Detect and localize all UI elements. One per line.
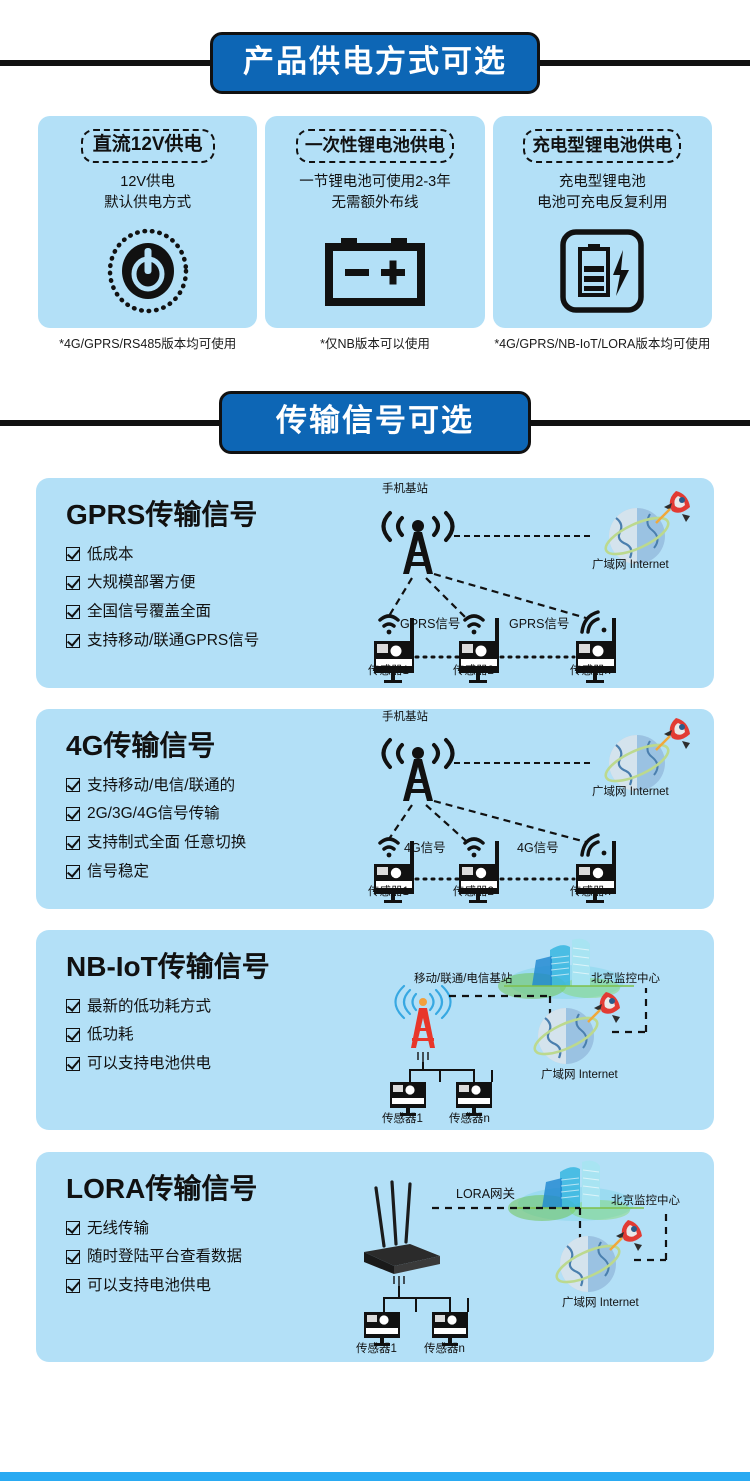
- signal-label-2: GPRS信号: [509, 618, 569, 631]
- sensor-label-1: 传感器1: [368, 887, 409, 899]
- feature-item: 大规模部署方便: [66, 573, 354, 593]
- signal-dot-2: [472, 629, 477, 634]
- city-skyline-icon: [498, 938, 634, 998]
- power-card-desc-line2: 电池可充电反复利用: [537, 193, 668, 214]
- rechargeable-battery-icon: [559, 228, 645, 314]
- check-icon: [66, 1028, 80, 1042]
- power-card-desc-line2: 无需额外布线: [299, 193, 450, 214]
- feature-label: 大规模部署方便: [87, 573, 196, 593]
- feature-item: 信号稳定: [66, 862, 354, 882]
- signal-arc-icon-3: [582, 612, 598, 632]
- feature-item: 低成本: [66, 545, 354, 565]
- check-icon: [66, 999, 80, 1013]
- power-card-title: 一次性锂电池供电: [296, 129, 454, 163]
- feature-item: 无线传输: [66, 1219, 354, 1239]
- power-card-dc12v: 直流12V供电 12V供电 默认供电方式 *4G/GPRS/RS485版本均可使…: [38, 116, 257, 354]
- signal-label-2: 4G信号: [517, 842, 559, 855]
- power-section-banner: 产品供电方式可选: [0, 18, 750, 108]
- feature-label: 低成本: [87, 545, 134, 565]
- signal-dot-1: [387, 629, 392, 634]
- power-card-title: 直流12V供电: [81, 129, 215, 163]
- feature-item: 全国信号覆盖全面: [66, 602, 354, 622]
- top-spacer: [0, 0, 750, 18]
- monitor-center-label: 北京监控中心: [611, 1196, 680, 1208]
- power-card-desc: 12V供电 默认供电方式: [104, 172, 191, 214]
- check-icon: [66, 634, 80, 648]
- power-banner-box: 产品供电方式可选: [210, 32, 540, 95]
- cell-tower-mast: [403, 520, 433, 574]
- power-card-body: 充电型锂电池供电 充电型锂电池 电池可充电反复利用: [493, 116, 712, 328]
- sensor-device-n: [432, 1312, 468, 1346]
- feature-item: 支持移动/电信/联通的: [66, 776, 354, 796]
- feature-item: 可以支持电池供电: [66, 1054, 354, 1074]
- internet-label: 广域网 Internet: [562, 1298, 639, 1310]
- lora-network-diagram: [354, 1152, 714, 1362]
- power-card-primary-lithium: 一次性锂电池供电 一节锂电池可使用2-3年 无需额外布线 *仅NB版本可以使用: [265, 116, 484, 354]
- sensor-label-1: 传感器1: [382, 1114, 423, 1126]
- power-banner-title: 产品供电方式可选: [243, 44, 507, 80]
- sensor-wiring: [384, 1286, 468, 1312]
- sensor-label-n: 传感器n: [570, 887, 611, 899]
- bottom-accent-bar: [0, 1472, 750, 1481]
- sensor-wiring: [410, 1062, 492, 1082]
- link-tower-sensorn: [434, 801, 586, 842]
- feature-label: 支持制式全面 任意切换: [87, 833, 246, 853]
- feature-list: 低成本 大规模部署方便 全国信号覆盖全面 支持移动/联通GPRS信号: [66, 545, 354, 651]
- feature-item: 最新的低功耗方式: [66, 997, 354, 1017]
- tower-label: 手机基站: [382, 484, 428, 496]
- gprs-network-diagram: [354, 478, 714, 688]
- tower-label: 手机基站: [382, 712, 428, 724]
- panel-diagram-lora: LORA网关 北京监控中心 广域网 Internet 传感器1 传感器n: [354, 1152, 714, 1362]
- feature-label: 低功耗: [87, 1025, 134, 1045]
- power-card-desc-line1: 充电型锂电池: [537, 172, 668, 193]
- sensor-label-n: 传感器n: [570, 666, 611, 678]
- power-card-desc-line1: 一节锂电池可使用2-3年: [299, 172, 450, 193]
- nbiot-tower-icon: [396, 986, 451, 1062]
- check-icon: [66, 1057, 80, 1071]
- power-card-rechargeable-lithium: 充电型锂电池供电 充电型锂电池 电池可充电反复利用 *4G/GPRS/NB-Io…: [493, 116, 712, 354]
- rocket-icon: [656, 491, 690, 523]
- feature-label: 无线传输: [87, 1219, 149, 1239]
- power-card-desc: 一节锂电池可使用2-3年 无需额外布线: [299, 172, 450, 214]
- check-icon: [66, 1279, 80, 1293]
- link-tower-sensor2: [426, 578, 466, 618]
- monitor-center-label: 北京监控中心: [591, 974, 660, 986]
- rocket-icon: [610, 1220, 642, 1251]
- signal-dot-2: [472, 852, 477, 857]
- rocket-icon: [656, 718, 690, 750]
- panel-text-column: NB-IoT传输信号 最新的低功耗方式 低功耗 可以支持电池供电: [36, 930, 354, 1130]
- feature-item: 随时登陆平台查看数据: [66, 1247, 354, 1267]
- signal-arc-icon-3: [582, 835, 598, 855]
- power-card-body: 一次性锂电池供电 一节锂电池可使用2-3年 无需额外布线: [265, 116, 484, 328]
- sensor-device-1: [390, 1082, 426, 1116]
- check-icon: [66, 865, 80, 879]
- signal-section-banner: 传输信号可选: [0, 378, 750, 468]
- power-card-note: *仅NB版本可以使用: [265, 335, 484, 354]
- check-icon: [66, 1221, 80, 1235]
- check-icon: [66, 576, 80, 590]
- car-battery-icon: [323, 228, 427, 314]
- feature-list: 最新的低功耗方式 低功耗 可以支持电池供电: [66, 997, 354, 1074]
- signal-dot-1: [387, 852, 392, 857]
- link-tower-sensor1: [389, 578, 412, 616]
- link-tower-sensor1: [389, 805, 412, 839]
- lora-gateway-icon: [364, 1182, 440, 1274]
- fourg-network-diagram: [354, 709, 714, 909]
- tower-label: 移动/联通/电信基站: [414, 974, 512, 986]
- check-icon: [66, 547, 80, 561]
- check-icon: [66, 807, 80, 821]
- signal-dot-3: [602, 627, 607, 632]
- signal-banner-box: 传输信号可选: [219, 391, 531, 454]
- feature-label: 支持移动/联通GPRS信号: [87, 631, 259, 651]
- feature-label: 最新的低功耗方式: [87, 997, 211, 1017]
- panel-heading: NB-IoT传输信号: [66, 952, 354, 983]
- feature-label: 支持移动/电信/联通的: [87, 776, 235, 796]
- panel-heading: GPRS传输信号: [66, 500, 354, 531]
- nbiot-network-diagram: [354, 930, 714, 1130]
- signal-panel-nbiot: NB-IoT传输信号 最新的低功耗方式 低功耗 可以支持电池供电: [36, 930, 714, 1130]
- feature-item: 2G/3G/4G信号传输: [66, 804, 354, 824]
- signal-panel-4g: 4G传输信号 支持移动/电信/联通的 2G/3G/4G信号传输 支持制式全面 任…: [36, 709, 714, 909]
- panel-diagram-4g: 手机基站 广域网 Internet 4G信号 4G信号 传感器1 传感器2 传感…: [354, 709, 714, 909]
- signal-dot-3: [602, 850, 607, 855]
- link-tower-sensorn: [434, 574, 586, 618]
- signal-arc-icon-2: [465, 616, 483, 626]
- panel-diagram-nbiot: 移动/联通/电信基站 北京监控中心 广域网 Internet 传感器1 传感器n: [354, 930, 714, 1130]
- gateway-label: LORA网关: [456, 1188, 515, 1201]
- power-card-row: 直流12V供电 12V供电 默认供电方式 *4G/GPRS/RS485版本均可使…: [0, 116, 750, 354]
- signal-panel-gprs: GPRS传输信号 低成本 大规模部署方便 全国信号覆盖全面 支持移动/联通GPR…: [36, 478, 714, 688]
- panel-text-column: LORA传输信号 无线传输 随时登陆平台查看数据 可以支持电池供电: [36, 1152, 354, 1362]
- feature-list: 支持移动/电信/联通的 2G/3G/4G信号传输 支持制式全面 任意切换 信号稳…: [66, 776, 354, 882]
- power-card-desc: 充电型锂电池 电池可充电反复利用: [537, 172, 668, 214]
- feature-list: 无线传输 随时登陆平台查看数据 可以支持电池供电: [66, 1219, 354, 1296]
- feature-label: 可以支持电池供电: [87, 1054, 211, 1074]
- feature-item: 支持移动/联通GPRS信号: [66, 631, 354, 651]
- panel-text-column: 4G传输信号 支持移动/电信/联通的 2G/3G/4G信号传输 支持制式全面 任…: [36, 709, 354, 909]
- sensor-label-1: 传感器1: [356, 1344, 397, 1356]
- cell-tower-mast: [403, 747, 433, 801]
- feature-item: 可以支持电池供电: [66, 1276, 354, 1296]
- sensor-device-1: [364, 1312, 400, 1346]
- sensor-label-n: 传感器n: [449, 1114, 490, 1126]
- feature-item: 支持制式全面 任意切换: [66, 833, 354, 853]
- globe-internet-icon: [530, 1008, 602, 1064]
- signal-label-1: GPRS信号: [400, 618, 460, 631]
- signal-arc-icon-2: [465, 839, 483, 849]
- check-icon: [66, 778, 80, 792]
- section-gap: [0, 354, 750, 378]
- signal-arc-icon-1: [380, 616, 398, 626]
- internet-label: 广域网 Internet: [592, 560, 669, 572]
- check-icon: [66, 1250, 80, 1264]
- power-card-note: *4G/GPRS/RS485版本均可使用: [38, 335, 257, 354]
- sensor-label-1: 传感器1: [368, 666, 409, 678]
- link-tower-sensor2: [426, 805, 466, 841]
- gateway-antenna-stub: [394, 1276, 404, 1286]
- city-skyline-icon: [508, 1160, 644, 1220]
- internet-label: 广域网 Internet: [541, 1070, 618, 1082]
- sensor-device-n: [456, 1082, 492, 1116]
- panel-heading: LORA传输信号: [66, 1174, 354, 1205]
- panel-heading: 4G传输信号: [66, 731, 354, 762]
- check-icon: [66, 836, 80, 850]
- power-button-icon: [106, 228, 190, 314]
- globe-internet-icon: [552, 1236, 624, 1292]
- signal-banner-title: 传输信号可选: [252, 403, 498, 439]
- panel-text-column: GPRS传输信号 低成本 大规模部署方便 全国信号覆盖全面 支持移动/联通GPR…: [36, 478, 354, 688]
- sensor-label-2: 传感器2: [453, 887, 494, 899]
- sensor-label-2: 传感器2: [453, 666, 494, 678]
- feature-label: 2G/3G/4G信号传输: [87, 804, 220, 824]
- feature-label: 信号稳定: [87, 862, 149, 882]
- power-card-desc-line2: 默认供电方式: [104, 193, 191, 214]
- signal-label-1: 4G信号: [404, 842, 446, 855]
- sensor-label-n: 传感器n: [424, 1344, 465, 1356]
- internet-label: 广域网 Internet: [592, 787, 669, 799]
- check-icon: [66, 605, 80, 619]
- power-card-body: 直流12V供电 12V供电 默认供电方式: [38, 116, 257, 328]
- feature-label: 随时登陆平台查看数据: [87, 1247, 242, 1267]
- power-card-note: *4G/GPRS/NB-IoT/LORA版本均可使用: [493, 335, 712, 354]
- power-card-desc-line1: 12V供电: [104, 172, 191, 193]
- feature-item: 低功耗: [66, 1025, 354, 1045]
- feature-label: 可以支持电池供电: [87, 1276, 211, 1296]
- power-card-title: 充电型锂电池供电: [523, 129, 681, 163]
- panel-diagram-gprs: 手机基站 广域网 Internet GPRS信号 GPRS信号 传感器1 传感器…: [354, 478, 714, 688]
- signal-arc-icon-1: [380, 839, 398, 849]
- signal-panel-lora: LORA传输信号 无线传输 随时登陆平台查看数据 可以支持电池供电: [36, 1152, 714, 1362]
- feature-label: 全国信号覆盖全面: [87, 602, 211, 622]
